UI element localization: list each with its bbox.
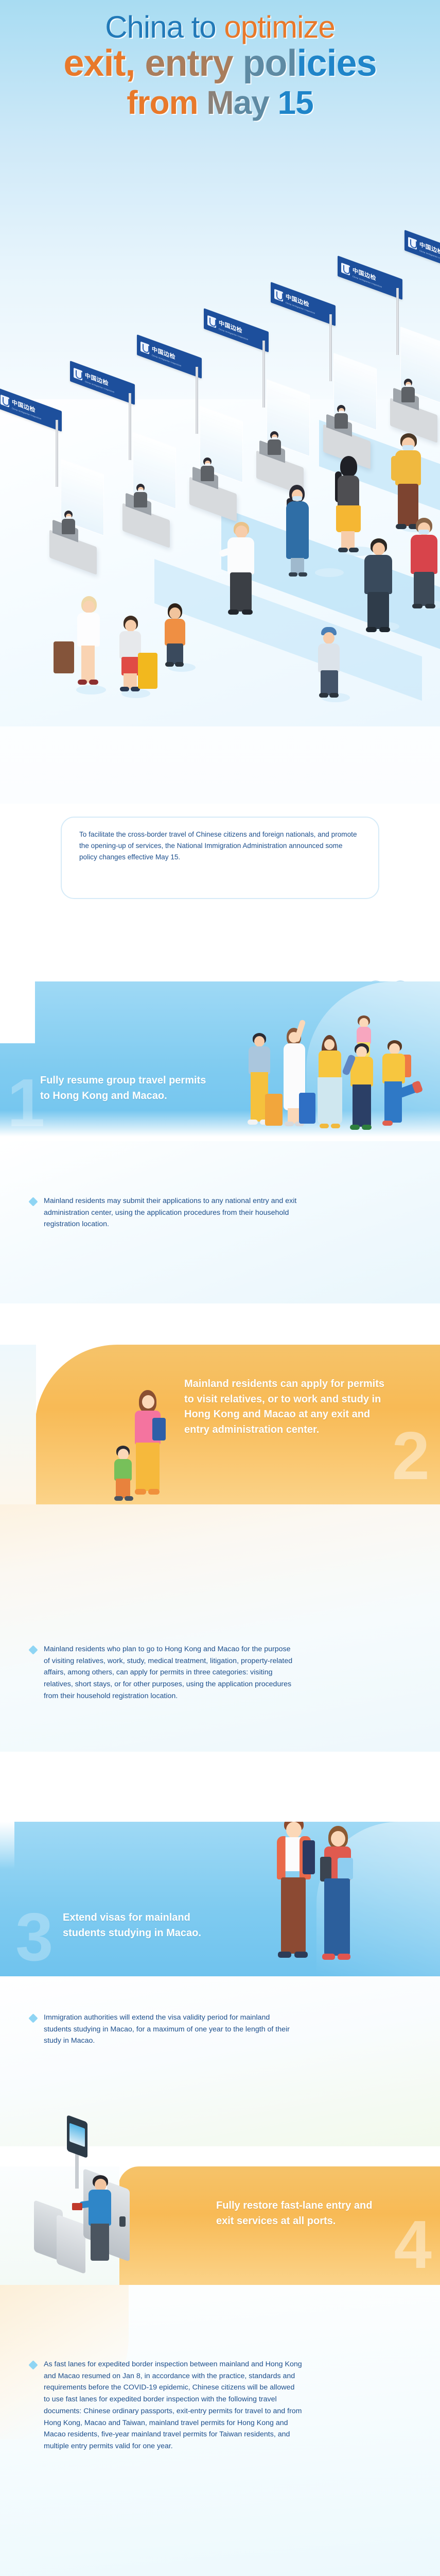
china-immigration-sign: 中国边检 China Immigration Inspection — [0, 387, 62, 432]
e-gate-illustration — [32, 2119, 167, 2289]
section-3-band: 3 Extend visas for mainland students stu… — [0, 1822, 440, 1976]
suit-jacket — [364, 555, 392, 594]
blue-shirt — [89, 2190, 111, 2226]
title-line-1: China to optimize — [0, 11, 440, 43]
band-corner-shape — [0, 1822, 14, 1869]
backpack — [303, 1840, 315, 1874]
legs — [341, 531, 355, 550]
skirt — [318, 1077, 342, 1125]
shoe — [294, 1952, 308, 1958]
trousers — [136, 1443, 160, 1491]
head — [323, 632, 335, 644]
heel-shoe — [78, 680, 87, 685]
sign-post — [262, 341, 265, 408]
shoe — [362, 1125, 372, 1130]
top — [338, 476, 359, 507]
section-3-number: 3 — [15, 1903, 53, 1971]
title-seg: from — [127, 84, 198, 121]
inspection-counter — [189, 477, 237, 521]
bullet-diamond-icon — [28, 2013, 38, 2023]
china-immigration-sign: 中国边检 China Immigration Inspection — [271, 282, 336, 326]
traveller-with-brown-suitcase — [71, 596, 110, 694]
band-corner-shape — [0, 981, 35, 1043]
head — [142, 1395, 154, 1409]
shoe — [114, 1496, 123, 1501]
family-man-yellow — [244, 1033, 275, 1136]
title-seg: optimize — [224, 10, 335, 44]
shoe — [228, 609, 239, 615]
jacket — [165, 619, 185, 646]
mask — [292, 496, 302, 501]
border-inspection-illustration: 中国边检 China Immigration Inspection — [0, 178, 440, 726]
legs — [81, 646, 95, 683]
green-shirt — [114, 1459, 132, 1481]
immigration-badge-icon — [140, 341, 149, 354]
bullet-text: Mainland residents who plan to go to Hon… — [44, 1643, 297, 1702]
head — [389, 1043, 400, 1055]
shorts — [121, 657, 139, 675]
china-immigration-sign: 中国边检 China Immigration Inspection — [338, 256, 402, 300]
family-boy-blue — [346, 1043, 378, 1138]
china-immigration-sign: 中国边检 China Immigration Inspection — [70, 361, 135, 405]
student-female — [318, 1826, 360, 1975]
trousers — [414, 572, 434, 606]
sign-post — [56, 420, 58, 487]
traveller-child-backpack — [161, 603, 193, 675]
inspection-booth-row: 中国边检 China Immigration Inspection — [0, 178, 440, 538]
head — [373, 543, 385, 555]
shoe — [322, 1954, 335, 1960]
shoe — [382, 1121, 393, 1126]
head — [235, 526, 248, 538]
officer-uniform — [335, 413, 348, 429]
yellow-suitcase — [138, 653, 157, 689]
passport — [72, 2203, 82, 2210]
family-woman-long-hair — [314, 1035, 346, 1138]
blue-suitcase — [299, 1093, 315, 1124]
traveller-with-cap — [314, 627, 348, 704]
officer-uniform — [62, 519, 75, 534]
traveller-man-white-shirt — [222, 522, 260, 617]
sign-post — [196, 367, 198, 434]
trousers — [367, 592, 389, 629]
shoe — [248, 1120, 258, 1125]
title-seg: China to — [105, 10, 224, 44]
immigration-officer — [200, 457, 215, 481]
shoe — [125, 1496, 133, 1501]
shoe — [242, 609, 253, 615]
bullet-text: As fast lanes for expedited border inspe… — [44, 2359, 303, 2452]
bullet-diamond-icon — [28, 1197, 38, 1206]
shoe — [298, 572, 307, 577]
shoe — [331, 1124, 340, 1128]
shirt — [357, 1027, 371, 1044]
page-title: China to optimize exit, entry policies f… — [0, 11, 440, 120]
shoe — [425, 604, 435, 608]
shoe — [396, 524, 407, 529]
shoe — [379, 627, 390, 632]
sign-post — [329, 314, 332, 381]
section-2-body-bg — [0, 1504, 440, 1752]
top — [319, 1050, 341, 1079]
section-4-number: 4 — [394, 2211, 432, 2279]
head — [118, 1449, 129, 1460]
blouse — [77, 613, 100, 647]
officer-uniform — [401, 387, 415, 402]
shoe — [350, 1125, 360, 1130]
family-woman-dress — [279, 1028, 309, 1136]
head — [254, 1036, 265, 1047]
title-line-2: exit, entry policies — [0, 45, 440, 82]
title-seg: M — [198, 84, 233, 121]
shoulder-bag — [152, 1418, 166, 1440]
family-man-backpack — [379, 1040, 417, 1138]
shirt — [395, 450, 421, 485]
shoe — [278, 1952, 291, 1958]
brown-suitcase — [54, 641, 74, 673]
shoe — [165, 662, 174, 667]
head — [83, 601, 95, 613]
immigration-badge-icon — [1, 394, 9, 407]
trousers — [321, 670, 338, 695]
traveller-woman-blue — [282, 485, 314, 578]
section-2-band: 2 Mainland residents can apply for permi… — [35, 1345, 440, 1504]
section-3-title: Extend visas for mainland students study… — [63, 1910, 227, 1941]
shirt — [249, 1046, 270, 1074]
gate-traveller — [85, 2175, 116, 2268]
immigration-badge-icon — [207, 315, 216, 328]
shirt — [382, 1054, 405, 1083]
immigration-badge-icon — [341, 262, 350, 275]
section-2-left-bg — [0, 1345, 36, 1504]
heel-shoe — [89, 680, 98, 685]
officer-uniform — [268, 439, 281, 455]
intro-card: To facilitate the cross-border travel of… — [61, 817, 379, 899]
jeans — [324, 1878, 350, 1956]
section-1-band: 1 Fully resume group travel permits to H… — [0, 981, 440, 1141]
student-male — [273, 1822, 317, 1971]
shoe — [320, 1124, 329, 1128]
trousers — [384, 1081, 402, 1123]
immigration-badge-icon — [274, 289, 283, 301]
title-seg: icies — [296, 43, 376, 84]
figure-shadow — [315, 568, 344, 577]
trousers — [167, 643, 183, 664]
shirt — [227, 537, 254, 574]
red-coat — [411, 535, 437, 574]
shoe — [175, 662, 184, 667]
immigration-officer — [400, 379, 416, 402]
officer-uniform — [201, 466, 214, 481]
traveller-man-suit — [360, 538, 398, 634]
trousers — [353, 1084, 371, 1127]
shoe — [366, 627, 377, 632]
section-3-bullet-1: Immigration authorities will extend the … — [30, 2012, 297, 2047]
traveller-child-yellow-suitcase — [114, 616, 156, 703]
china-immigration-sign: 中国边检 China Immigration Inspection — [404, 230, 440, 274]
section-4-title: Fully restore fast-lane entry and exit s… — [216, 2198, 386, 2229]
china-immigration-sign: 中国边检 China Immigration Inspection — [137, 334, 202, 379]
bullet-text: Mainland residents may submit their appl… — [44, 1195, 297, 1230]
title-seg: entry — [135, 43, 233, 84]
section-2-bullet-1: Mainland residents who plan to go to Hon… — [30, 1643, 297, 1702]
immigration-officer — [267, 431, 282, 455]
trousers — [281, 1877, 306, 1954]
bullet-diamond-icon — [28, 1645, 38, 1654]
arm — [391, 456, 398, 481]
sign-post — [129, 393, 131, 460]
child-figure — [110, 1446, 139, 1504]
title-seg: exit, — [63, 43, 135, 84]
shoe — [349, 548, 359, 552]
hero-section: China to optimize exit, entry policies f… — [0, 0, 440, 804]
shoe — [289, 572, 297, 577]
gate-pillar-left-2 — [57, 2214, 85, 2274]
hair — [340, 456, 357, 477]
trousers — [116, 1479, 130, 1498]
section-4-bullet-1: As fast lanes for expedited border inspe… — [30, 2359, 303, 2452]
intro-text: To facilitate the cross-border travel of… — [79, 829, 361, 863]
skirt — [336, 505, 361, 532]
immigration-officer — [61, 511, 76, 534]
shoe — [338, 548, 348, 552]
trousers — [91, 2224, 109, 2261]
section-2-title: Mainland residents can apply for permits… — [184, 1377, 390, 1437]
title-seg: pol — [233, 43, 297, 84]
head — [331, 1831, 345, 1846]
shoe — [148, 1489, 160, 1495]
traveller-woman-red-coat — [407, 518, 440, 611]
section-1-title: Fully resume group travel permits to Hon… — [40, 1073, 210, 1104]
china-immigration-sign: 中国边检 China Immigration Inspection — [204, 308, 269, 352]
infographic-page: China to optimize exit, entry policies f… — [0, 0, 440, 2576]
head — [286, 1822, 302, 1838]
shirt — [318, 643, 340, 672]
title-line-3: from May 15 — [0, 86, 440, 120]
officer-uniform — [134, 492, 147, 507]
students-illustration — [268, 1822, 381, 1976]
head — [356, 1046, 367, 1058]
bullet-text: Immigration authorities will extend the … — [44, 2012, 297, 2047]
immigration-badge-icon — [74, 367, 82, 380]
shoe — [120, 687, 129, 691]
section-2-number: 2 — [392, 1422, 430, 1490]
immigration-officer — [133, 484, 148, 507]
book — [338, 1858, 353, 1879]
shoe — [338, 1954, 350, 1960]
trousers — [230, 572, 252, 612]
title-seg: ay — [234, 84, 269, 121]
sign-post — [396, 288, 399, 355]
head — [324, 1039, 335, 1050]
mother-and-child-illustration — [110, 1390, 198, 1504]
immigration-badge-icon — [408, 236, 417, 249]
head — [125, 620, 136, 632]
shoe — [412, 604, 423, 608]
shoe — [329, 693, 339, 698]
shoe — [319, 693, 328, 698]
head — [169, 607, 181, 619]
section-1-bullet-1: Mainland residents may submit their appl… — [30, 1195, 297, 1230]
bullet-diamond-icon — [28, 2360, 38, 2369]
title-seg: 15 — [269, 84, 313, 121]
shoulder-bag — [320, 1857, 331, 1882]
dress — [286, 501, 309, 559]
family-travellers-illustration — [239, 1011, 430, 1140]
immigration-officer — [333, 405, 349, 429]
gate-scanner-light — [119, 2216, 126, 2227]
mask — [418, 530, 429, 534]
mask — [402, 445, 414, 450]
shoe — [285, 1122, 294, 1126]
